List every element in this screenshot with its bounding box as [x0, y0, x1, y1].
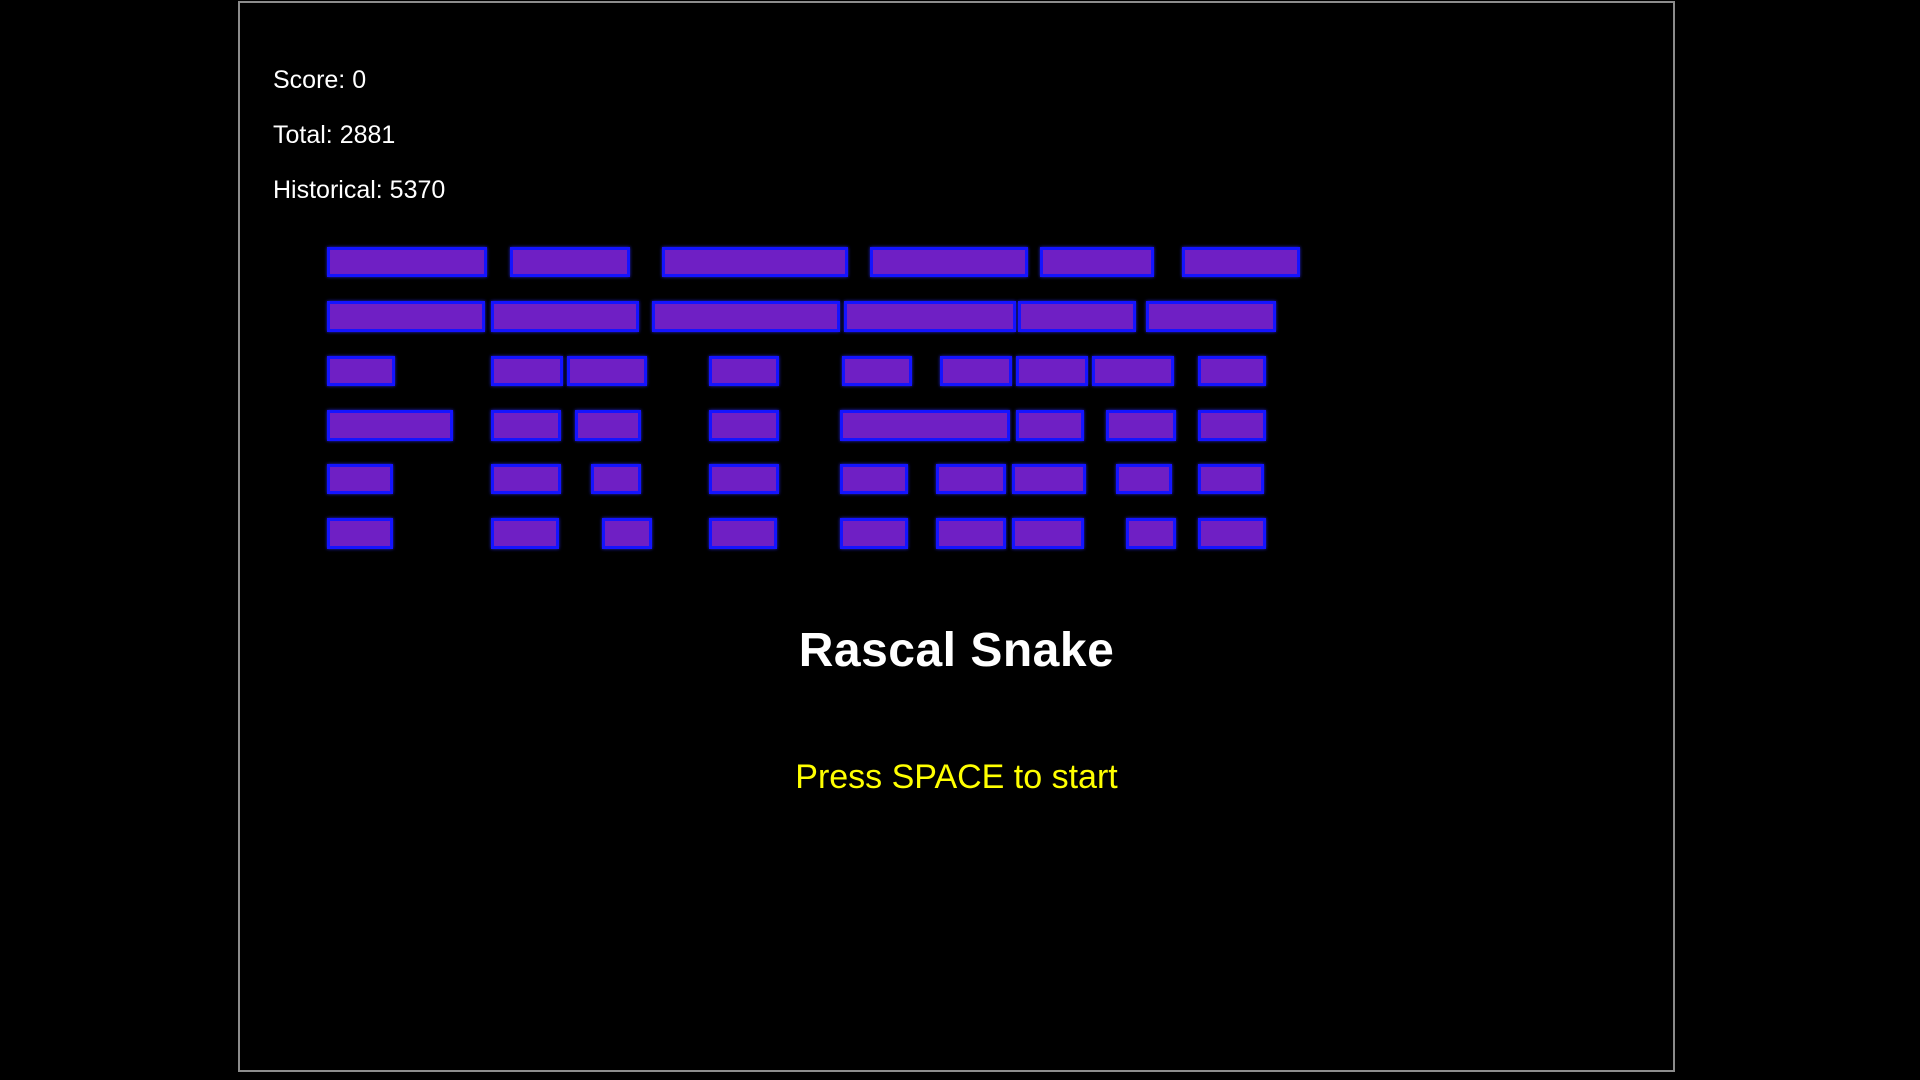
- brick: [1198, 464, 1264, 494]
- brick: [1198, 410, 1266, 441]
- brick: [1016, 410, 1084, 441]
- brick: [327, 356, 395, 386]
- brick: [1198, 518, 1266, 549]
- brick: [840, 464, 908, 494]
- brick: [842, 356, 912, 386]
- brick: [1182, 247, 1300, 277]
- brick: [591, 464, 641, 494]
- historical-readout: Historical: 5370: [273, 163, 445, 218]
- brick: [491, 356, 563, 386]
- brick: [1040, 247, 1154, 277]
- game-canvas[interactable]: Score: 0 Total: 2881 Historical: 5370 Ra…: [238, 1, 1675, 1072]
- brick: [327, 410, 453, 441]
- score-readout: Score: 0: [273, 53, 445, 108]
- brick: [652, 301, 840, 332]
- brick: [575, 410, 641, 441]
- brick: [491, 301, 639, 332]
- start-prompt: Press SPACE to start: [240, 758, 1673, 797]
- brick: [491, 410, 561, 441]
- brick-field: [240, 3, 1673, 1070]
- brick: [844, 301, 1016, 332]
- brick: [491, 464, 561, 494]
- brick: [491, 518, 559, 549]
- brick: [709, 410, 779, 441]
- brick: [936, 518, 1006, 549]
- brick: [327, 464, 393, 494]
- brick: [510, 247, 630, 277]
- brick: [662, 247, 848, 277]
- brick: [1146, 301, 1276, 332]
- game-title: Rascal Snake: [240, 623, 1673, 678]
- brick: [709, 356, 779, 386]
- brick: [1116, 464, 1172, 494]
- brick: [327, 247, 487, 277]
- brick: [327, 301, 485, 332]
- brick: [1012, 518, 1084, 549]
- brick: [1018, 301, 1136, 332]
- brick: [1126, 518, 1176, 549]
- screen-root: Score: 0 Total: 2881 Historical: 5370 Ra…: [0, 0, 1920, 1080]
- brick: [1092, 356, 1174, 386]
- brick: [840, 518, 908, 549]
- brick: [936, 464, 1006, 494]
- hud-panel: Score: 0 Total: 2881 Historical: 5370: [273, 53, 445, 218]
- brick: [1016, 356, 1088, 386]
- brick: [1012, 464, 1086, 494]
- brick: [1198, 356, 1266, 386]
- brick: [602, 518, 652, 549]
- brick: [1106, 410, 1176, 441]
- total-readout: Total: 2881: [273, 108, 445, 163]
- brick: [709, 464, 779, 494]
- brick: [567, 356, 647, 386]
- brick: [327, 518, 393, 549]
- brick: [840, 410, 1010, 441]
- brick: [940, 356, 1012, 386]
- brick: [709, 518, 777, 549]
- brick: [870, 247, 1028, 277]
